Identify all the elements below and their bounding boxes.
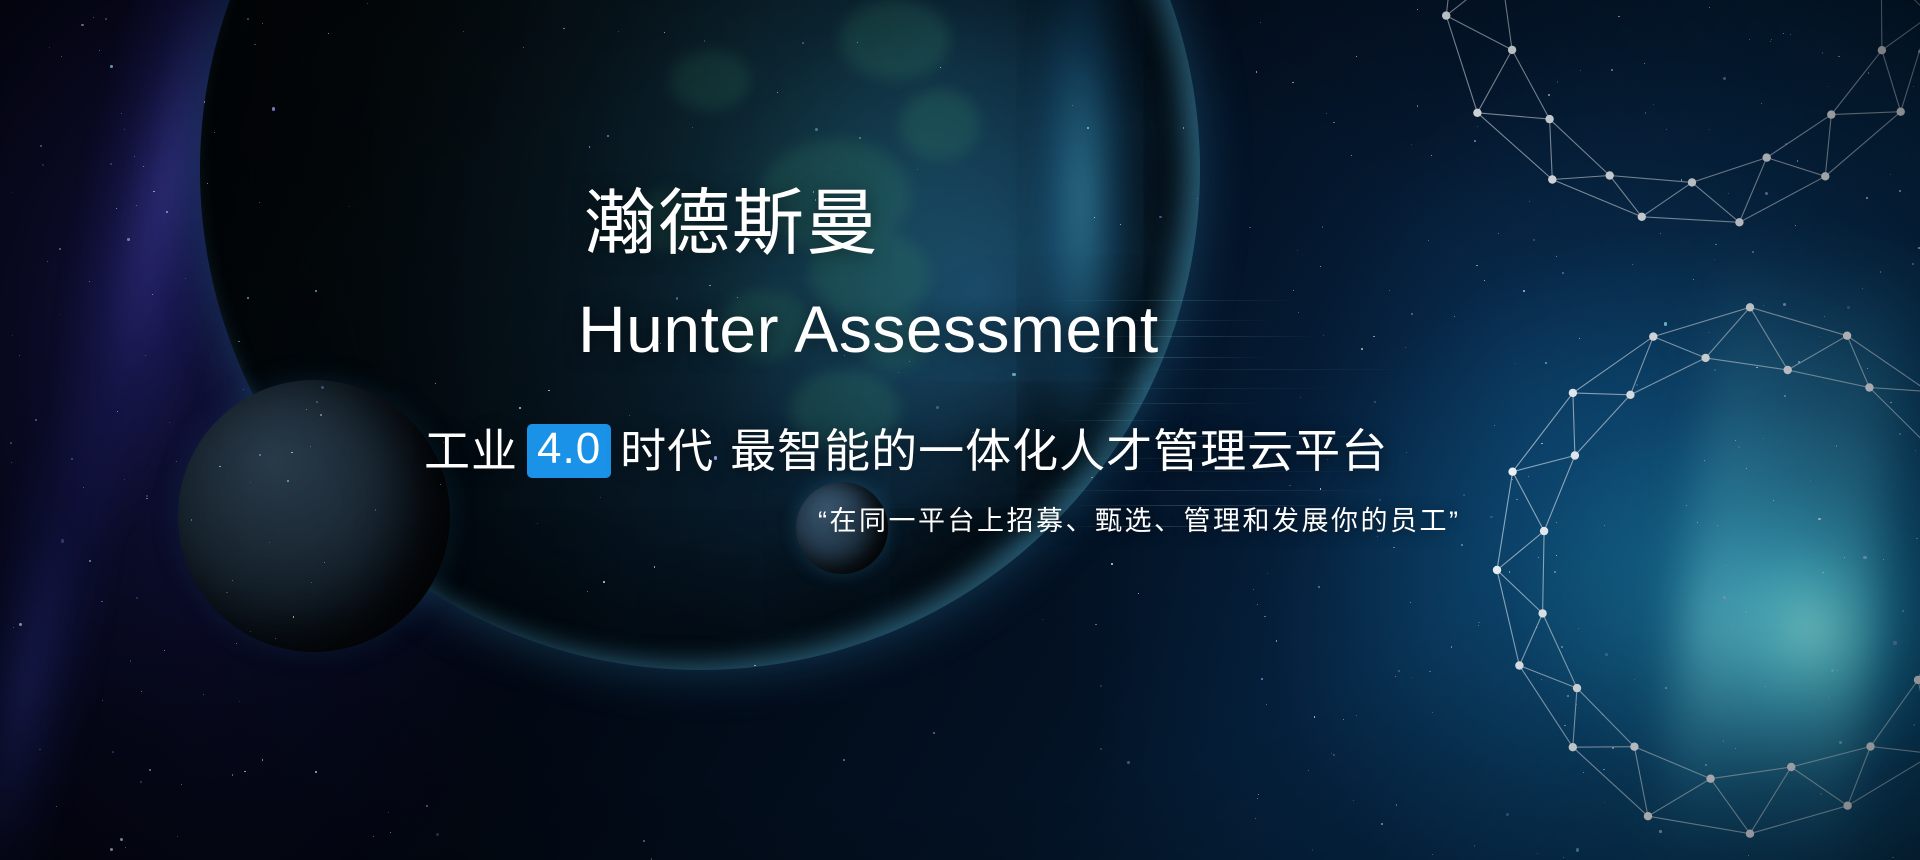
hero-banner: 瀚德斯曼 Hunter Assessment 工业 4.0 时代 最智能的一体化… (0, 0, 1920, 860)
vignette-overlay (0, 0, 1920, 860)
